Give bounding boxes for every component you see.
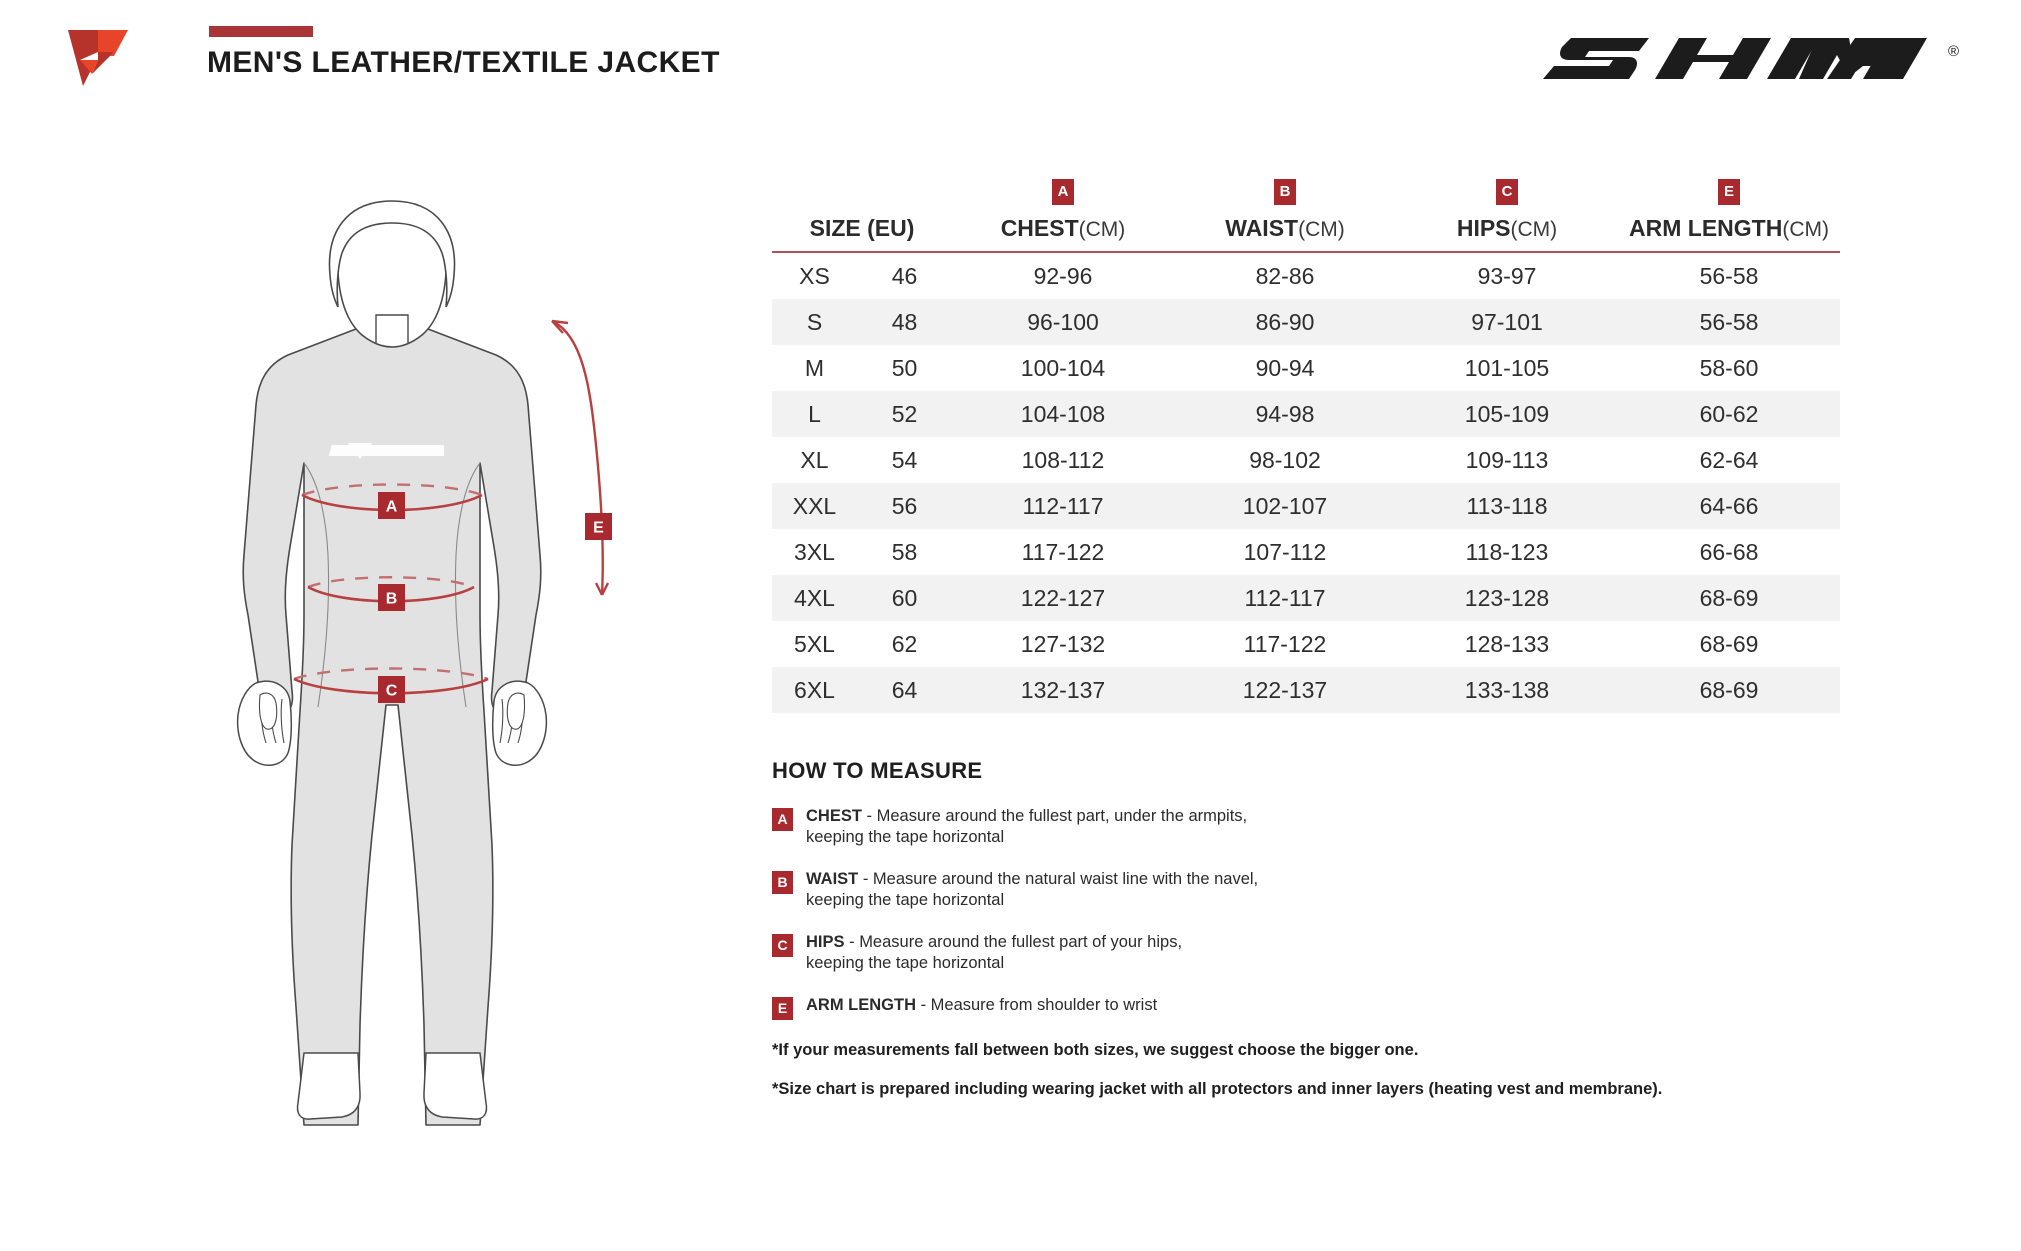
title-accent-bar — [209, 26, 313, 37]
page-title: MEN'S LEATHER/TEXTILE JACKET — [207, 46, 720, 80]
human-body-diagram: A B C — [230, 195, 680, 1145]
waist-cell: 98-102 — [1174, 437, 1396, 483]
chest-cell: 108-112 — [952, 437, 1174, 483]
size-cell: 6XL — [772, 667, 857, 713]
table-row: 5XL62127-132117-122128-13368-69 — [772, 621, 1840, 667]
eu-cell: 50 — [857, 345, 952, 391]
chest-cell: 132-137 — [952, 667, 1174, 713]
waist-cell: 102-107 — [1174, 483, 1396, 529]
chest-cell: 104-108 — [952, 391, 1174, 437]
eu-cell: 64 — [857, 667, 952, 713]
svg-text:E: E — [593, 520, 604, 537]
size-table: SIZE (EU) A CHEST(CM) B WAIST(CM) — [772, 215, 1840, 713]
table-row: XS4692-9682-8693-9756-58 — [772, 252, 1840, 299]
arm-cell: 68-69 — [1618, 667, 1840, 713]
waist-cell: 112-117 — [1174, 575, 1396, 621]
hips-cell: 105-109 — [1396, 391, 1618, 437]
how-to-measure-section: HOW TO MEASURE ACHEST - Measure around t… — [772, 758, 1872, 1119]
waist-badge: B — [378, 584, 405, 611]
size-cell: S — [772, 299, 857, 345]
chest-header-badge: A — [1052, 179, 1074, 205]
arm-cell: 62-64 — [1618, 437, 1840, 483]
measure-label: WAIST — [806, 870, 863, 888]
chest-cell: 92-96 — [952, 252, 1174, 299]
waist-cell: 82-86 — [1174, 252, 1396, 299]
table-row: M50100-10490-94101-10558-60 — [772, 345, 1840, 391]
measure-badge: A — [772, 808, 793, 831]
chest-cell: 100-104 — [952, 345, 1174, 391]
measure-instruction: EARM LENGTH - Measure from shoulder to w… — [772, 995, 1872, 1020]
body-silhouette — [238, 201, 547, 1125]
measure-badge: C — [772, 934, 793, 957]
svg-text:B: B — [386, 591, 398, 608]
table-row: XL54108-11298-102109-11362-64 — [772, 437, 1840, 483]
hips-cell: 93-97 — [1396, 252, 1618, 299]
arm-cell: 68-69 — [1618, 575, 1840, 621]
size-chart-page: MEN'S LEATHER/TEXTILE JACKET ® — [0, 0, 2021, 1251]
note-text: *Size chart is prepared including wearin… — [772, 1080, 1872, 1099]
arm-cell: 66-68 — [1618, 529, 1840, 575]
eu-cell: 48 — [857, 299, 952, 345]
arm-header-badge: E — [1718, 179, 1740, 205]
hips-cell: 133-138 — [1396, 667, 1618, 713]
page-header: MEN'S LEATHER/TEXTILE JACKET ® — [0, 0, 2021, 120]
hips-cell: 97-101 — [1396, 299, 1618, 345]
hips-cell: 123-128 — [1396, 575, 1618, 621]
eu-cell: 60 — [857, 575, 952, 621]
table-row: XXL56112-117102-107113-11864-66 — [772, 483, 1840, 529]
shima-mark-icon — [66, 26, 130, 90]
size-table-panel: SIZE (EU) A CHEST(CM) B WAIST(CM) — [772, 215, 1840, 713]
size-cell: 5XL — [772, 621, 857, 667]
waist-cell: 86-90 — [1174, 299, 1396, 345]
size-cell: XS — [772, 252, 857, 299]
table-row: S4896-10086-9097-10156-58 — [772, 299, 1840, 345]
hips-cell: 128-133 — [1396, 621, 1618, 667]
header-waist: B WAIST(CM) — [1174, 215, 1396, 252]
arm-cell: 58-60 — [1618, 345, 1840, 391]
measure-label: ARM LENGTH — [806, 996, 921, 1014]
arm-cell: 56-58 — [1618, 252, 1840, 299]
arm-length-badge: E — [585, 513, 612, 540]
measure-description: - Measure around the fullest part, under… — [867, 807, 1248, 825]
header-chest: A CHEST(CM) — [952, 215, 1174, 252]
shima-wordmark-logo — [1533, 30, 1943, 86]
eu-cell: 62 — [857, 621, 952, 667]
table-row: 6XL64132-137122-137133-13868-69 — [772, 667, 1840, 713]
measure-instruction: BWAIST - Measure around the natural wais… — [772, 869, 1872, 911]
measure-text: HIPS - Measure around the fullest part o… — [806, 932, 1182, 974]
size-table-body: XS4692-9682-8693-9756-58S4896-10086-9097… — [772, 252, 1840, 713]
measure-description-line2: keeping the tape horizontal — [806, 953, 1182, 974]
waist-cell: 117-122 — [1174, 621, 1396, 667]
measure-badge: B — [772, 871, 793, 894]
hips-badge: C — [378, 676, 405, 703]
eu-cell: 58 — [857, 529, 952, 575]
svg-text:A: A — [386, 499, 398, 516]
measure-description-line2: keeping the tape horizontal — [806, 890, 1258, 911]
arm-length-arrow — [552, 321, 608, 595]
table-row: 4XL60122-127112-117123-12868-69 — [772, 575, 1840, 621]
waist-header-badge: B — [1274, 179, 1296, 205]
waist-cell: 107-112 — [1174, 529, 1396, 575]
size-cell: 3XL — [772, 529, 857, 575]
eu-cell: 54 — [857, 437, 952, 483]
hips-cell: 118-123 — [1396, 529, 1618, 575]
waist-cell: 90-94 — [1174, 345, 1396, 391]
hips-cell: 109-113 — [1396, 437, 1618, 483]
table-header-row: SIZE (EU) A CHEST(CM) B WAIST(CM) — [772, 215, 1840, 252]
chest-cell: 127-132 — [952, 621, 1174, 667]
chest-cell: 96-100 — [952, 299, 1174, 345]
waist-cell: 94-98 — [1174, 391, 1396, 437]
size-cell: L — [772, 391, 857, 437]
waist-cell: 122-137 — [1174, 667, 1396, 713]
hips-cell: 113-118 — [1396, 483, 1618, 529]
eu-cell: 46 — [857, 252, 952, 299]
header-hips: C HIPS(CM) — [1396, 215, 1618, 252]
arm-cell: 68-69 — [1618, 621, 1840, 667]
size-cell: XXL — [772, 483, 857, 529]
chest-cell: 122-127 — [952, 575, 1174, 621]
size-cell: M — [772, 345, 857, 391]
table-row: 3XL58117-122107-112118-12366-68 — [772, 529, 1840, 575]
measure-description: - Measure around the natural waist line … — [863, 870, 1258, 888]
hips-cell: 101-105 — [1396, 345, 1618, 391]
measure-instruction: CHIPS - Measure around the fullest part … — [772, 932, 1872, 974]
svg-text:C: C — [386, 683, 398, 700]
arm-cell: 60-62 — [1618, 391, 1840, 437]
measure-instruction: ACHEST - Measure around the fullest part… — [772, 806, 1872, 848]
measure-badge: E — [772, 997, 793, 1020]
measure-description-line2: keeping the tape horizontal — [806, 827, 1247, 848]
measure-description: - Measure from shoulder to wrist — [921, 996, 1158, 1014]
hips-header-badge: C — [1496, 179, 1518, 205]
measure-label: HIPS — [806, 933, 849, 951]
registered-trademark-symbol: ® — [1948, 43, 1959, 60]
size-cell: XL — [772, 437, 857, 483]
notes-list: *If your measurements fall between both … — [772, 1041, 1872, 1099]
arm-cell: 64-66 — [1618, 483, 1840, 529]
measurement-figure: A B C — [230, 195, 680, 1145]
arm-cell: 56-58 — [1618, 299, 1840, 345]
header-size: SIZE (EU) — [772, 215, 952, 252]
measure-text: CHEST - Measure around the fullest part,… — [806, 806, 1247, 848]
eu-cell: 52 — [857, 391, 952, 437]
chest-cell: 112-117 — [952, 483, 1174, 529]
size-cell: 4XL — [772, 575, 857, 621]
eu-cell: 56 — [857, 483, 952, 529]
measure-instruction-list: ACHEST - Measure around the fullest part… — [772, 806, 1872, 1020]
measure-description: - Measure around the fullest part of you… — [849, 933, 1182, 951]
note-text: *If your measurements fall between both … — [772, 1041, 1872, 1060]
measure-text: ARM LENGTH - Measure from shoulder to wr… — [806, 995, 1157, 1016]
how-to-measure-title: HOW TO MEASURE — [772, 758, 1872, 784]
chest-cell: 117-122 — [952, 529, 1174, 575]
measure-label: CHEST — [806, 807, 867, 825]
table-row: L52104-10894-98105-10960-62 — [772, 391, 1840, 437]
header-arm-length: E ARM LENGTH(CM) — [1618, 215, 1840, 252]
chest-badge: A — [378, 492, 405, 519]
measure-text: WAIST - Measure around the natural waist… — [806, 869, 1258, 911]
